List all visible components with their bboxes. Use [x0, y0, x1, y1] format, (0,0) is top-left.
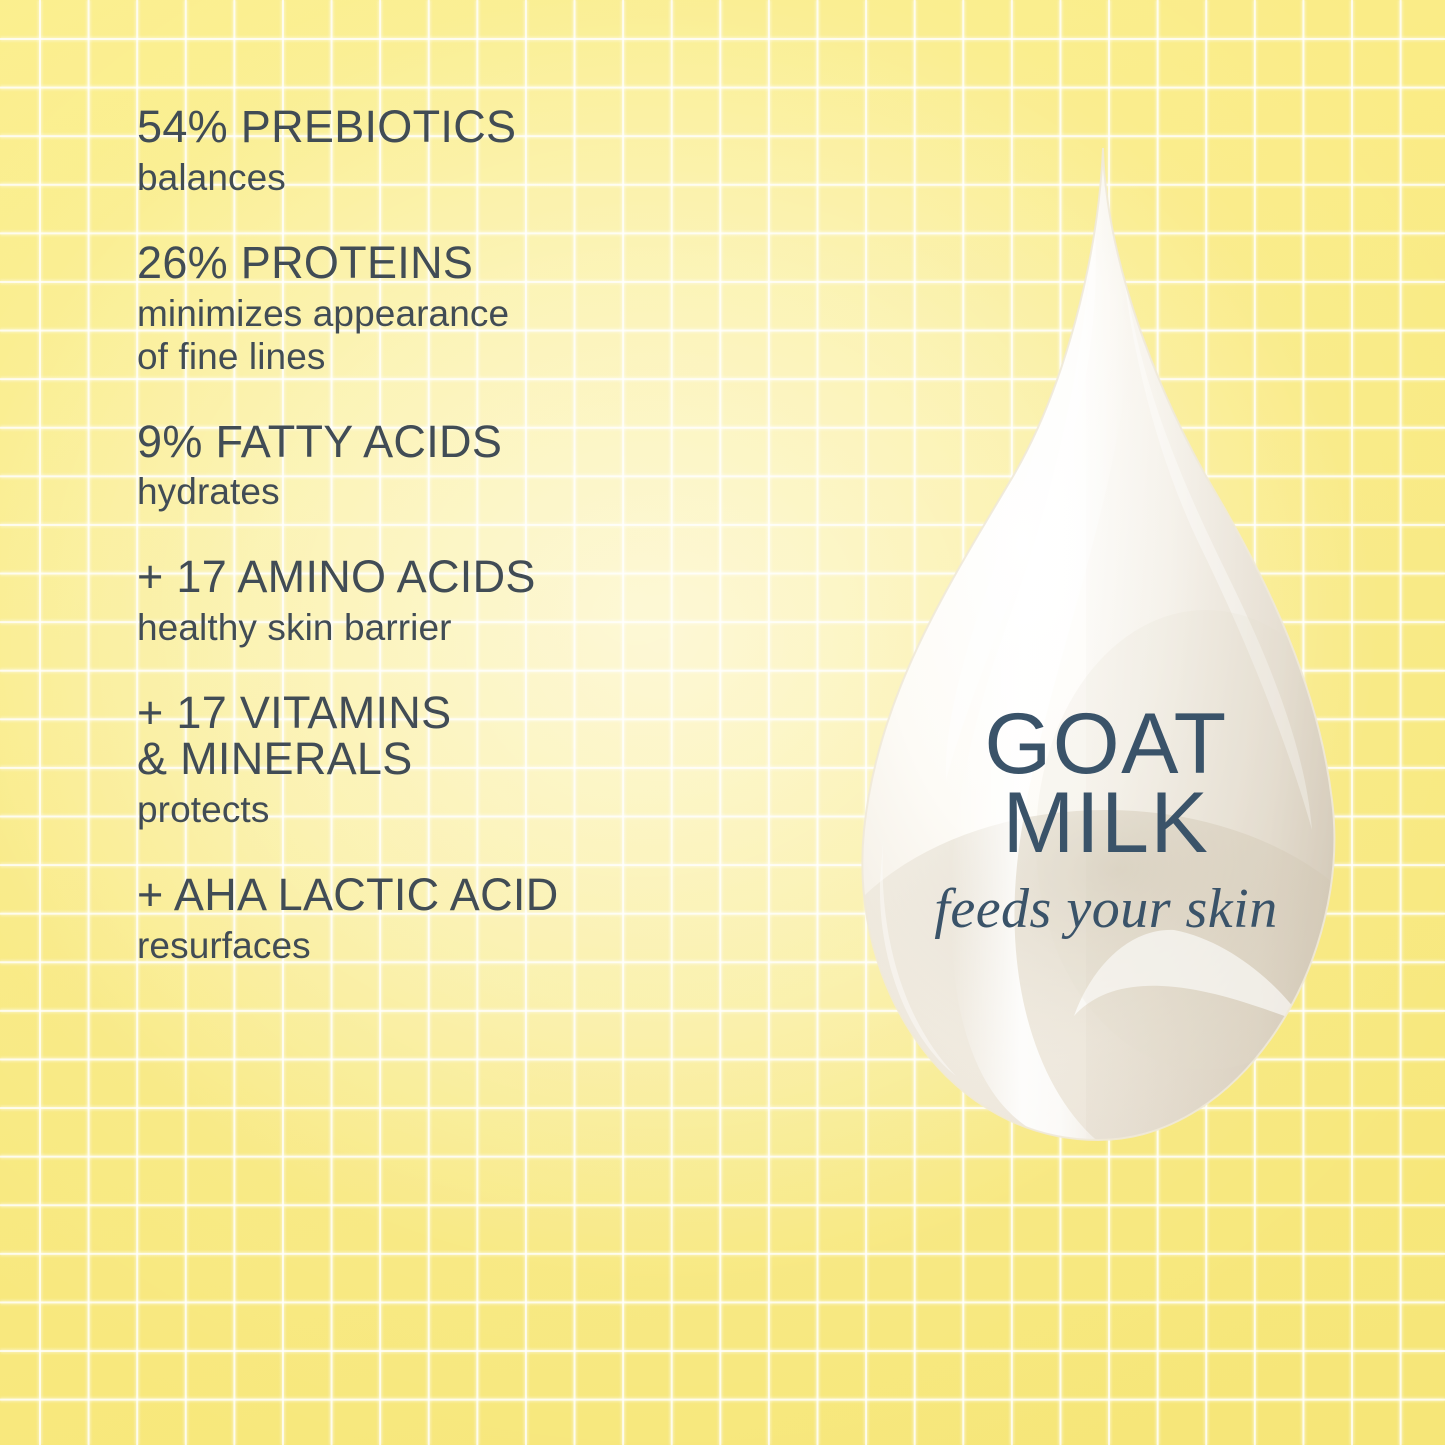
list-item: + 17 VITAMINS & MINERALS protects [137, 690, 827, 832]
ingredient-headline: + 17 AMINO ACIDS [137, 554, 827, 600]
ingredient-benefit: hydrates [137, 471, 827, 514]
ingredient-benefit: resurfaces [137, 925, 827, 968]
list-item: 54% PREBIOTICS balances [137, 104, 827, 200]
milk-droplet-graphic: GOAT MILK feeds your skin [806, 140, 1406, 1160]
ingredient-headline: 26% PROTEINS [137, 240, 827, 286]
ingredient-benefit: protects [137, 789, 827, 832]
list-item: + AHA LACTIC ACID resurfaces [137, 872, 827, 968]
ingredient-headline: 54% PREBIOTICS [137, 104, 827, 150]
ingredient-headline: + AHA LACTIC ACID [137, 872, 827, 918]
ingredient-headline: + 17 VITAMINS & MINERALS [137, 690, 827, 782]
ingredient-benefit: healthy skin barrier [137, 607, 827, 650]
list-item: 26% PROTEINS minimizes appearance of fin… [137, 240, 827, 379]
ingredient-benefit: minimizes appearance of fine lines [137, 293, 827, 379]
list-item: + 17 AMINO ACIDS healthy skin barrier [137, 554, 827, 650]
ingredient-headline: 9% FATTY ACIDS [137, 419, 827, 465]
ingredient-benefit: balances [137, 157, 827, 200]
milk-droplet-icon [806, 140, 1406, 1160]
ingredient-list: 54% PREBIOTICS balances 26% PROTEINS min… [137, 104, 827, 968]
product-infographic: 54% PREBIOTICS balances 26% PROTEINS min… [0, 0, 1445, 1445]
list-item: 9% FATTY ACIDS hydrates [137, 419, 827, 515]
